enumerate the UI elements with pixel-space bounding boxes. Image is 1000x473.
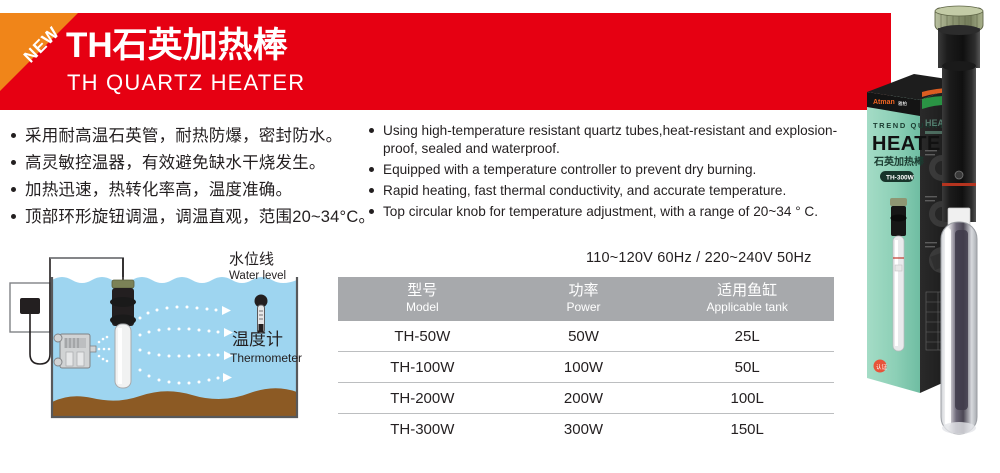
filter-pump-icon [54,334,96,368]
heater-quartz-tube [115,324,131,388]
page-title: TH石英加热棒 [66,26,288,66]
feature-text: 高灵敏控温器，有效避免缺水干烧发生。 [25,154,326,172]
cell-tank: 150L [660,414,834,445]
table-row: TH-50W 50W 25L [338,321,834,352]
feature-text: Rapid heating, fast thermal conductivity… [383,183,786,198]
feature-item: Rapid heating, fast thermal conductivity… [368,182,868,200]
header-label-en: Applicable tank [660,300,834,315]
specification-table: 型号 Model 功率 Power 适用鱼缸 Applicable tank T… [338,277,834,444]
box-model-label: TH-300W [886,175,915,182]
table-header-model: 型号 Model [338,277,507,321]
header-banner: NEW TH石英加热棒 TH QUARTZ HEATER [0,13,891,110]
power-plug-icon [20,298,40,314]
heater-indicator-dot [955,171,963,179]
box-brand-label: Atman [873,99,895,106]
table-header-row: 型号 Model 功率 Power 适用鱼缸 Applicable tank [338,277,834,321]
header-label-en: Model [338,300,507,315]
header-label-cn: 适用鱼缸 [660,282,834,300]
feature-text: 采用耐高温石英管，耐热防爆，密封防水。 [25,127,342,145]
water-level-label-cn: 水位线 [229,251,274,269]
box-brand-cn: 雅柏 [898,100,907,107]
heater-temp-marker-line [942,183,976,186]
voltage-note: 110~120V 60Hz / 220~240V 50Hz [586,250,812,266]
heater-knob [112,280,134,288]
features-list-chinese: 采用耐高温石英管，耐热防爆，密封防水。 高灵敏控温器，有效避免缺水干烧发生。 加… [10,124,360,232]
water-level-label-en: Water level [229,269,286,283]
cell-power: 100W [507,352,661,383]
table-row: TH-300W 300W 150L [338,414,834,445]
box-line3: 石英加热棒 [873,155,925,168]
feature-text: Equipped with a temperature controller t… [383,162,756,177]
cell-power: 300W [507,414,661,445]
feature-text: Top circular knob for temperature adjust… [383,204,818,219]
bullet-dot-icon [11,160,16,165]
table-header-power: 功率 Power [507,277,661,321]
table-row: TH-100W 100W 50L [338,352,834,383]
bullet-dot-icon [369,167,374,172]
feature-item: 加热迅速，热转化率高，温度准确。 [10,178,360,203]
bullet-dot-icon [11,187,16,192]
heater-product [935,6,983,434]
cell-model: TH-50W [338,321,507,352]
bullet-dot-icon [369,128,374,133]
feature-item: 高灵敏控温器，有效避免缺水干烧发生。 [10,151,360,176]
cord-overhead-segment [50,258,123,277]
cell-tank: 50L [660,352,834,383]
heating-element [955,230,968,410]
table-row: TH-200W 200W 100L [338,383,834,414]
product-photo: Atman 雅柏 TREND QUARTZ HEATER 石英加热棒 TH-30… [862,0,1000,468]
thermometer-label-en: Thermometer [230,351,302,365]
header-label-en: Power [507,300,661,315]
feature-item: 顶部环形旋钮调温，调温直观，范围20~34°C。 [10,205,360,230]
header-label-cn: 型号 [338,282,507,300]
cell-tank: 25L [660,321,834,352]
page-subtitle: TH QUARTZ HEATER [67,70,305,96]
feature-item: 采用耐高温石英管，耐热防爆，密封防水。 [10,124,360,149]
bullet-dot-icon [11,133,16,138]
thermometer-label-cn: 温度计 [232,330,283,350]
header-label-cn: 功率 [507,282,661,300]
cell-model: TH-300W [338,414,507,445]
bullet-dot-icon [11,214,16,219]
feature-text: 加热迅速，热转化率高，温度准确。 [25,181,292,199]
cell-power: 50W [507,321,661,352]
bullet-dot-icon [369,188,374,193]
feature-item: Top circular knob for temperature adjust… [368,203,868,221]
feature-text: Using high-temperature resistant quartz … [383,123,837,156]
cell-tank: 100L [660,383,834,414]
heater-black-body [942,66,976,222]
cell-power: 200W [507,383,661,414]
features-list-english: Using high-temperature resistant quartz … [368,122,868,224]
cell-model: TH-100W [338,352,507,383]
svg-text:认证: 认证 [876,363,888,371]
bullet-dot-icon [369,209,374,214]
cell-model: TH-200W [338,383,507,414]
aquarium-illustration: 水位线 Water level 温度计 Thermometer [4,250,324,440]
table-header-tank: 适用鱼缸 Applicable tank [660,277,834,321]
tube-highlight [945,228,951,426]
feature-text: 顶部环形旋钮调温，调温直观，范围20~34°C。 [25,208,375,226]
feature-item: Equipped with a temperature controller t… [368,161,868,179]
feature-item: Using high-temperature resistant quartz … [368,122,868,157]
